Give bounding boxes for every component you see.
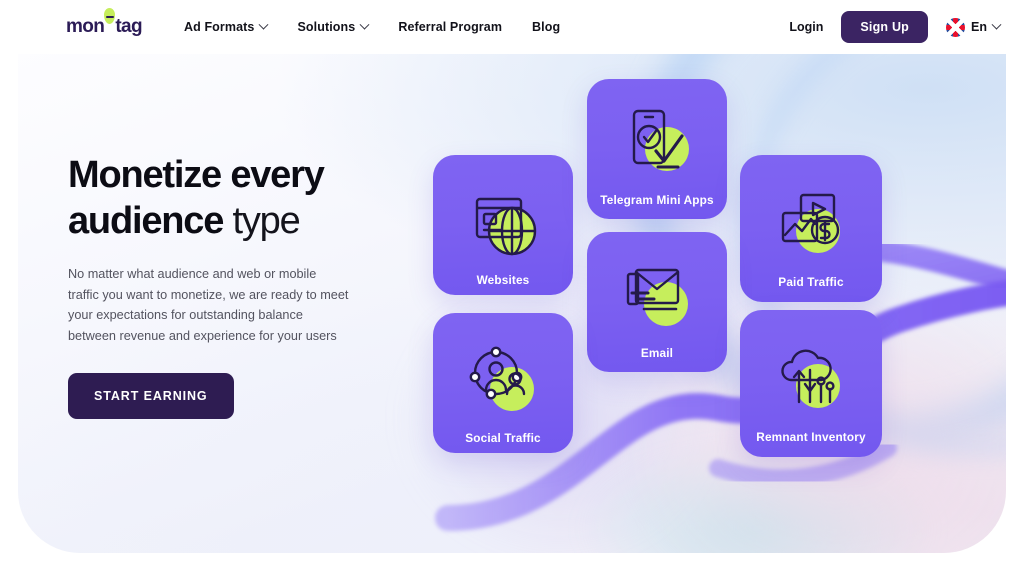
language-selector[interactable]: En	[946, 18, 1000, 37]
card-paid-traffic[interactable]: Paid Traffic	[740, 155, 882, 302]
card-social-traffic-label: Social Traffic	[465, 431, 541, 445]
card-paid-traffic-label: Paid Traffic	[778, 275, 843, 289]
top-navigation-bar: monetag Ad Formats Solutions Referral Pr…	[0, 0, 1024, 54]
card-social-traffic[interactable]: Social Traffic	[433, 313, 573, 453]
nav-links: Ad Formats Solutions Referral Program Bl…	[184, 20, 560, 34]
social-network-icon	[460, 339, 546, 425]
nav-item-solutions-label: Solutions	[297, 20, 355, 34]
uk-flag-icon	[946, 18, 965, 37]
chevron-down-icon	[360, 19, 370, 29]
envelope-icon	[614, 254, 700, 340]
nav-item-ad-formats-label: Ad Formats	[184, 20, 254, 34]
nav-item-blog-label: Blog	[532, 20, 560, 34]
card-remnant-inventory[interactable]: Remnant Inventory	[740, 310, 882, 457]
hero-section: Monetize every audience type No matter w…	[18, 48, 1006, 553]
login-link[interactable]: Login	[789, 20, 823, 34]
landing-page: monetag Ad Formats Solutions Referral Pr…	[0, 0, 1024, 575]
phone-check-icon	[614, 101, 700, 187]
chevron-down-icon	[992, 19, 1002, 29]
sign-up-button[interactable]: Sign Up	[841, 11, 928, 43]
logo-leaf-e-icon: e	[104, 16, 115, 38]
nav-item-solutions[interactable]: Solutions	[297, 20, 368, 34]
video-dollar-icon	[768, 183, 854, 269]
language-label: En	[971, 20, 987, 34]
card-websites[interactable]: Websites	[433, 155, 573, 295]
nav-item-blog[interactable]: Blog	[532, 20, 560, 34]
monetag-logo[interactable]: monetag	[66, 16, 142, 38]
nav-right-group: Login Sign Up En	[789, 11, 1000, 43]
card-email-label: Email	[641, 346, 673, 360]
card-telegram-mini-apps[interactable]: Telegram Mini Apps	[587, 79, 727, 219]
card-telegram-mini-apps-label: Telegram Mini Apps	[600, 193, 713, 207]
cloud-arrows-icon	[768, 338, 854, 424]
logo-text-after: tag	[115, 16, 142, 38]
card-websites-label: Websites	[477, 273, 530, 287]
audience-type-cards: Websites	[18, 48, 1006, 553]
nav-item-referral-program-label: Referral Program	[398, 20, 502, 34]
logo-text-before: mon	[66, 16, 104, 38]
nav-item-ad-formats[interactable]: Ad Formats	[184, 20, 267, 34]
card-remnant-inventory-label: Remnant Inventory	[756, 430, 865, 444]
nav-item-referral-program[interactable]: Referral Program	[398, 20, 502, 34]
card-email[interactable]: Email	[587, 232, 727, 372]
browser-globe-icon	[460, 181, 546, 267]
chevron-down-icon	[259, 19, 269, 29]
